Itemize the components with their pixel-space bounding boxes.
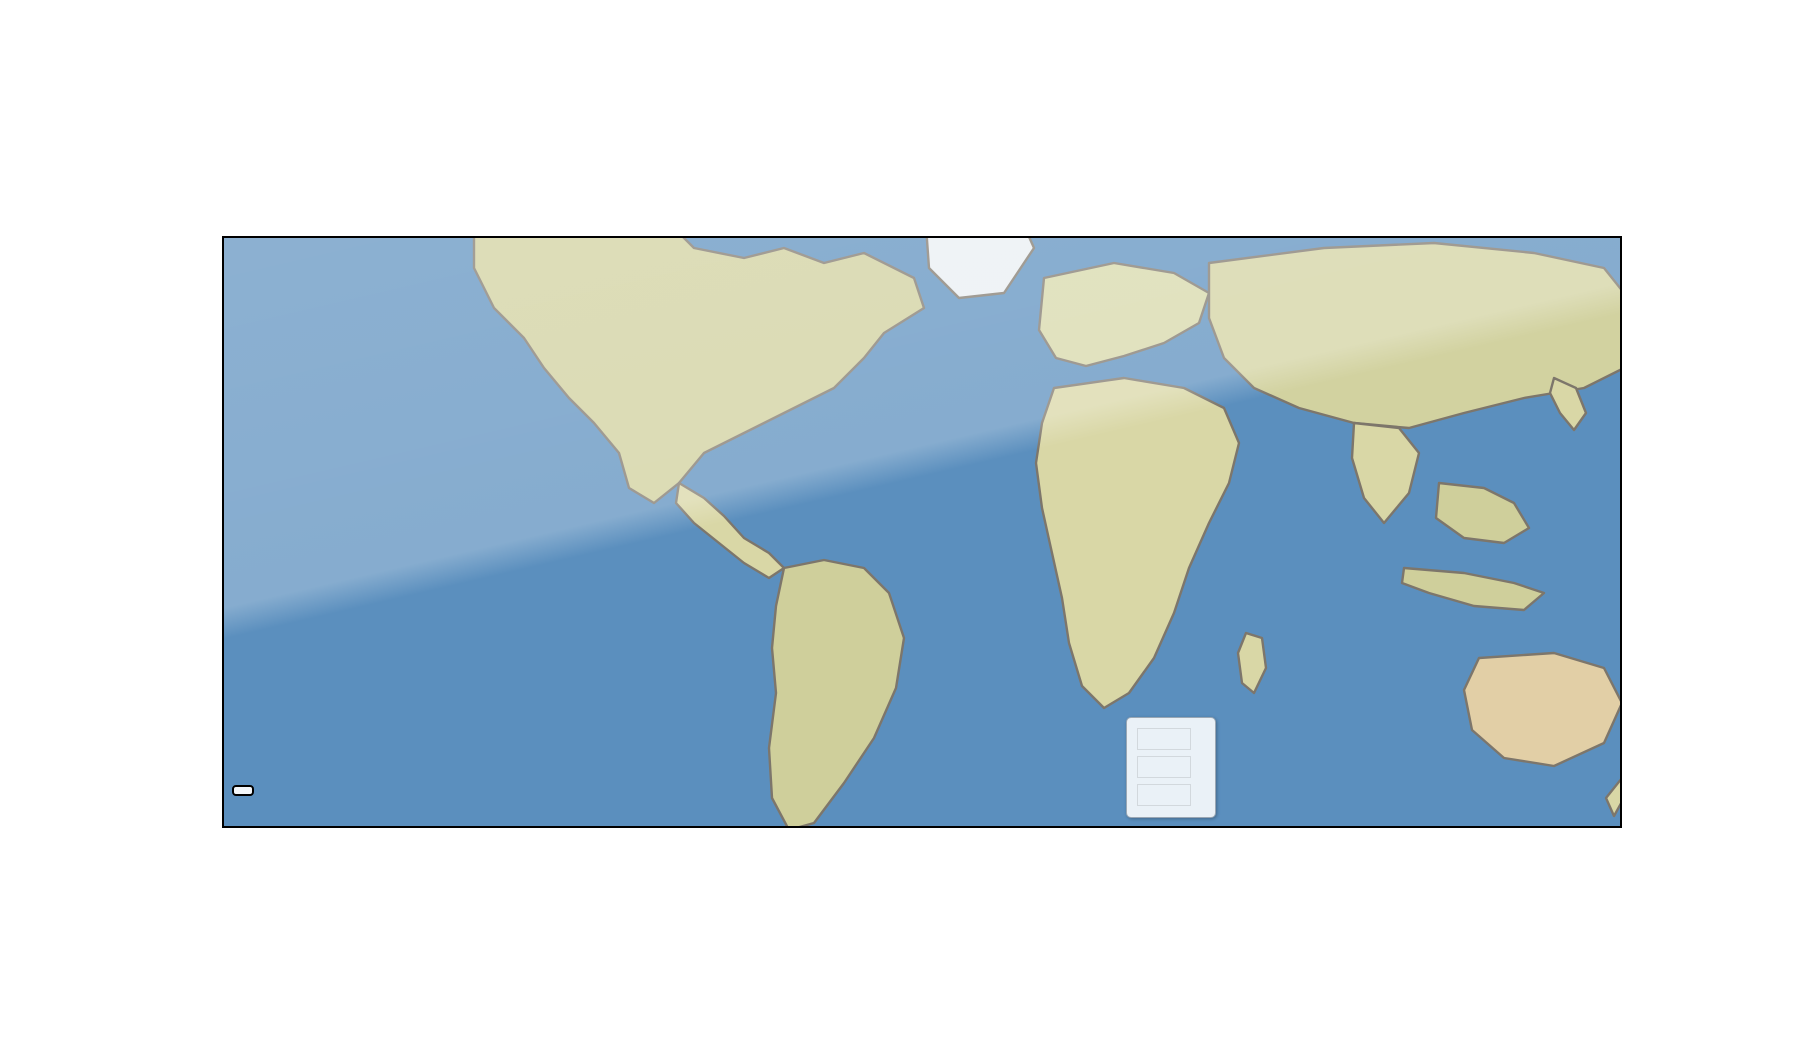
terminator-shading <box>224 238 1622 828</box>
map-svg <box>224 238 1622 828</box>
legend-swatch-probably-clear <box>1137 728 1191 750</box>
legend-item-no-specification <box>1137 781 1203 809</box>
legend-item-probably-clear <box>1137 725 1203 753</box>
figure <box>0 0 1800 1050</box>
legend-swatch-possibly-clear <box>1137 756 1191 778</box>
legend-swatch-no-specification <box>1137 784 1191 806</box>
legend-item-possibly-clear <box>1137 753 1203 781</box>
map-legend <box>1126 717 1216 818</box>
map-plot-area <box>222 236 1622 828</box>
frequency-validity-note <box>232 785 254 796</box>
